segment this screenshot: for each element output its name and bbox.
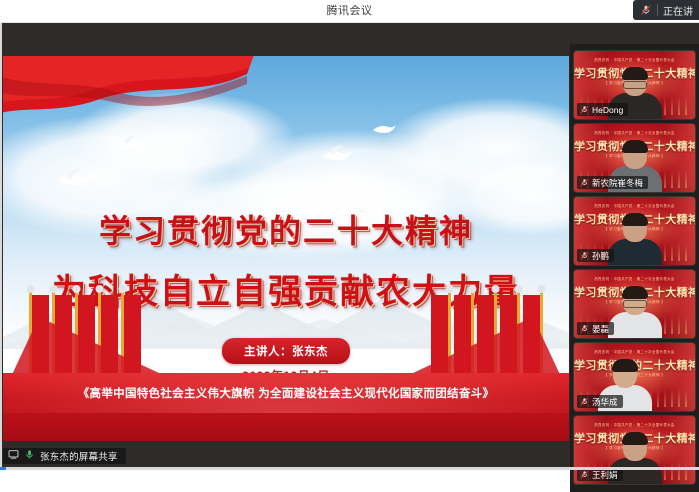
speaker-badge: 主讲人：张东杰 <box>222 338 350 364</box>
dove-icon <box>371 118 397 136</box>
participant-video-figure <box>607 286 663 338</box>
speaking-label: 正在讲 <box>663 3 693 18</box>
tile-banner-top: 热烈庆祝 · 中国共产党 · 第二十次全国代表大会 <box>574 422 695 427</box>
stage-left-edge <box>0 22 2 470</box>
participant-video-figure <box>607 213 663 265</box>
participant-name-chip: 新农院崔冬梅 <box>577 176 648 189</box>
tencent-meeting-window: 腾讯会议 正在讲 <box>0 0 699 470</box>
mic-muted-icon <box>580 101 589 119</box>
red-flag-icon <box>3 56 257 132</box>
flag-cluster-icon <box>373 277 563 387</box>
flag-cluster-icon <box>9 277 199 387</box>
tile-banner-top: 热烈庆祝 · 中国共产党 · 第二十次全国代表大会 <box>574 276 695 281</box>
screen-share-label: 张东杰的屏幕共享 <box>40 449 118 463</box>
participant-tile[interactable]: 热烈庆祝 · 中国共产党 · 第二十次全国代表大会 学习贯彻党的二十大精神 【 … <box>574 343 695 411</box>
participant-video-rail[interactable]: 热烈庆祝 · 中国共产党 · 第二十次全国代表大会 学习贯彻党的二十大精神 【 … <box>570 44 699 492</box>
slide-title-line1: 学习贯彻党的二十大精神 <box>3 206 569 252</box>
mic-muted-icon <box>640 4 652 16</box>
screen-share-icon <box>8 447 19 465</box>
participant-name: 汤华成 <box>592 396 618 408</box>
participant-name: 孙鹏 <box>592 250 609 262</box>
participant-tile[interactable]: 热烈庆祝 · 中国共产党 · 第二十次全国代表大会 学习贯彻党的二十大精神 【 … <box>574 270 695 338</box>
participant-name: 王利娟 <box>592 469 618 481</box>
participant-tile[interactable]: 热烈庆祝 · 中国共产党 · 第二十次全国代表大会 学习贯彻党的二十大精神 【 … <box>574 197 695 265</box>
participant-name: 新农院崔冬梅 <box>592 177 643 189</box>
mic-muted-icon <box>580 320 589 338</box>
shared-screen-area[interactable]: 学习贯彻党的二十大精神 为科技自立自强贡献农大力量 主讲人：张东杰 2022年1… <box>3 56 569 441</box>
participant-name-chip: 孙鹏 <box>577 249 614 262</box>
meeting-stage: 学习贯彻党的二十大精神 为科技自立自强贡献农大力量 主讲人：张东杰 2022年1… <box>0 22 699 470</box>
speaking-indicator-badge[interactable]: 正在讲 <box>633 0 699 20</box>
dove-icon <box>319 142 355 164</box>
participant-tile[interactable]: 热烈庆祝 · 中国共产党 · 第二十次全国代表大会 学习贯彻党的二十大精神 【 … <box>574 124 695 192</box>
mic-muted-icon <box>580 247 589 265</box>
slide-bottom-band: 《高举中国特色社会主义伟大旗帜 为全面建设社会主义现代化国家而团结奋斗》 <box>3 373 569 441</box>
dove-icon <box>53 164 95 190</box>
participant-name-chip: 晏磊 <box>577 322 614 335</box>
dove-icon <box>115 132 145 152</box>
participant-name: HeDong <box>592 105 623 115</box>
slide-bottom-quote: 《高举中国特色社会主义伟大旗帜 为全面建设社会主义现代化国家而团结奋斗》 <box>3 385 569 401</box>
badge-divider <box>657 4 658 16</box>
mic-muted-icon <box>580 174 589 192</box>
participant-tile[interactable]: 热烈庆祝 · 中国共产党 · 第二十次全国代表大会 学习贯彻党的二十大精神 【 … <box>574 416 695 484</box>
tile-banner-top: 热烈庆祝 · 中国共产党 · 第二十次全国代表大会 <box>574 130 695 135</box>
participant-name-chip: HeDong <box>577 103 628 116</box>
participant-name-chip: 汤华成 <box>577 395 623 408</box>
participant-name: 晏磊 <box>592 323 609 335</box>
tile-banner-top: 热烈庆祝 · 中国共产党 · 第二十次全国代表大会 <box>574 57 695 62</box>
participant-tile[interactable]: 热烈庆祝 · 中国共产党 · 第二十次全国代表大会 学习贯彻党的二十大精神 【 … <box>574 51 695 119</box>
window-titlebar: 腾讯会议 <box>0 0 699 23</box>
mic-muted-icon <box>580 393 589 411</box>
tile-banner-top: 热烈庆祝 · 中国共产党 · 第二十次全国代表大会 <box>574 203 695 208</box>
window-title: 腾讯会议 <box>0 0 699 22</box>
screen-share-status-bar: 张东杰的屏幕共享 <box>3 448 126 464</box>
presentation-slide: 学习贯彻党的二十大精神 为科技自立自强贡献农大力量 主讲人：张东杰 2022年1… <box>3 56 569 441</box>
tile-banner-top: 热烈庆祝 · 中国共产党 · 第二十次全国代表大会 <box>574 349 695 354</box>
mic-on-icon <box>24 447 35 465</box>
cloud-shape <box>383 98 569 198</box>
